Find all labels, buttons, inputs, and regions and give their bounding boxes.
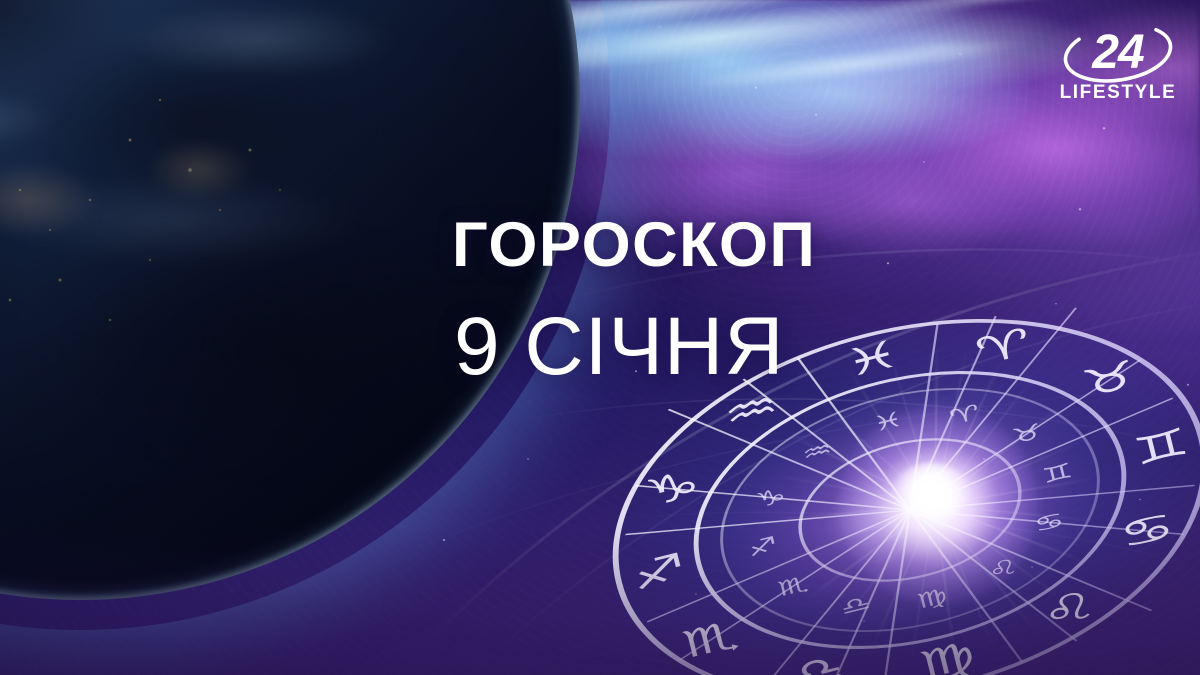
date-subtitle: 9 СІЧНЯ [454,306,816,388]
logo-mark: 24 [1054,22,1182,84]
logo-wordmark: LIFESTYLE [1054,82,1182,104]
page-title: ГОРОСКОП [452,214,816,277]
horoscope-banner: ♓ ♈ ♉ ♊ ♋ ♌ ♍ ♎ ♏ ♐ ♑ ♒ ♓ ♈ ♉ [0,0,1200,675]
zodiac-glow-core [893,463,969,519]
title-block: ГОРОСКОП 9 СІЧНЯ [452,214,816,388]
logo-number: 24 [1054,22,1182,84]
brand-logo[interactable]: 24 LIFESTYLE [1054,22,1182,114]
